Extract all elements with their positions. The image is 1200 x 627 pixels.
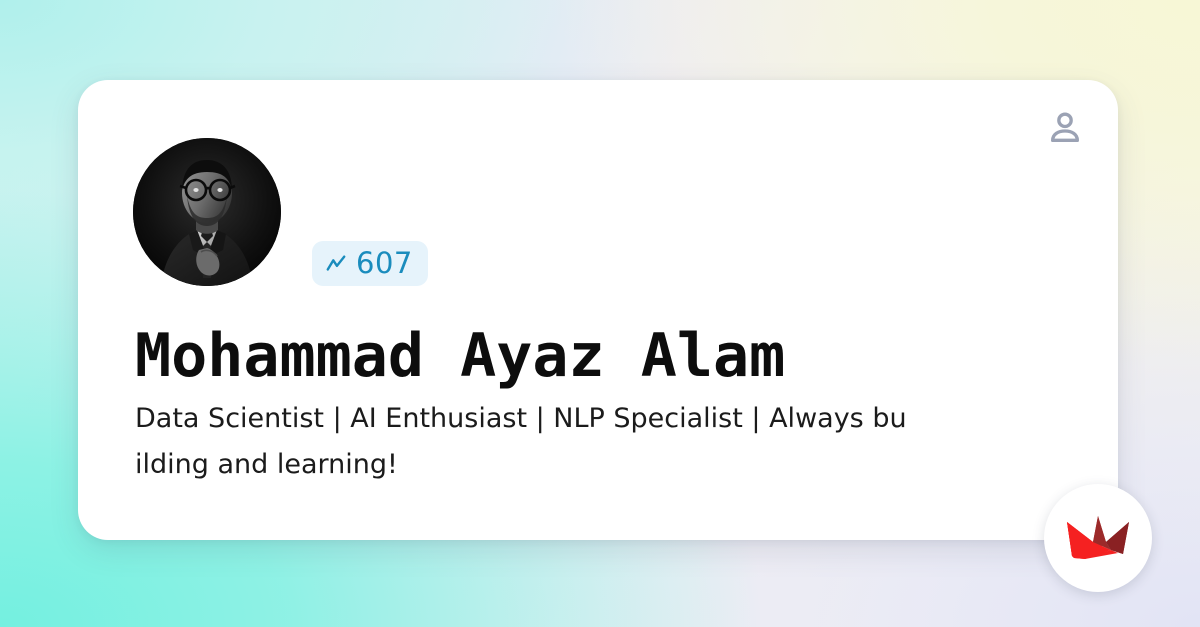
profile-card: 607 Mohammad Ayaz Alam Data Scientist | … [78,80,1118,540]
avatar[interactable] [133,138,281,286]
profile-bio: Data Scientist | AI Enthusiast | NLP Spe… [135,396,940,488]
bio-line-1: Data Scientist | AI Enthusiast | NLP Spe… [135,396,940,442]
bio-line-2: ilding and learning! [135,442,940,488]
page-title: Mohammad Ayaz Alam [135,323,785,390]
badge-count: 607 [356,249,413,278]
person-icon[interactable] [1045,108,1085,148]
rank-badge[interactable]: 607 [312,241,428,286]
crown-logo-badge[interactable] [1044,484,1152,592]
trending-up-icon [325,253,347,275]
crown-logo-icon [1065,512,1131,564]
page-canvas: 607 Mohammad Ayaz Alam Data Scientist | … [0,0,1200,627]
